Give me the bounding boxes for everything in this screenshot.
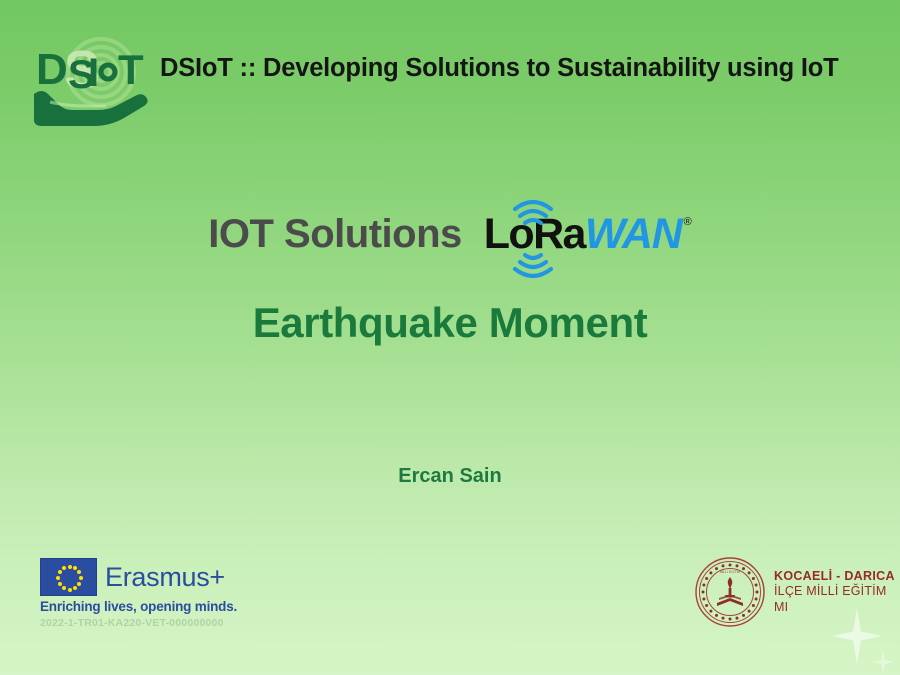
iot-solutions-label: IOT Solutions	[208, 214, 461, 254]
iot-solutions-row: IOT Solutions Lo Ra WAN ®	[0, 203, 900, 265]
author-name: Ercan Sain	[0, 465, 900, 488]
svg-text:D: D	[36, 45, 66, 94]
erasmus-logo-row: Erasmus+	[40, 558, 290, 596]
presentation-slide: S D S I T DSIoT :: Developing Solutions …	[0, 0, 900, 675]
svg-text:T: T	[118, 46, 144, 93]
erasmus-plus-logo: Erasmus+ Enriching lives, opening minds.…	[40, 558, 290, 629]
lorawan-lo-text: Lo	[484, 213, 533, 256]
lorawan-ra-text: Ra	[533, 213, 585, 256]
svg-text:I: I	[88, 51, 97, 95]
slide-main-title: Earthquake Moment	[0, 300, 900, 346]
page-title: DSIoT :: Developing Solutions to Sustain…	[160, 54, 890, 83]
lorawan-logo: Lo Ra WAN ®	[484, 213, 692, 256]
ministry-seal-icon: MILLI EGITIM	[694, 556, 766, 628]
kocaeli-darica-logo: MILLI EGITIM KOCAELİ - DARICA İLÇE MİLLİ…	[694, 556, 900, 628]
kocaeli-line-2: İLÇE MİLLİ EĞİTİM MI	[774, 584, 900, 615]
sparkle-small-icon	[872, 650, 894, 674]
kocaeli-line-1: KOCAELİ - DARICA	[774, 569, 900, 585]
kocaeli-text-block: KOCAELİ - DARICA İLÇE MİLLİ EĞİTİM MI	[774, 569, 900, 616]
erasmus-tagline: Enriching lives, opening minds.	[40, 599, 290, 614]
erasmus-wordmark: Erasmus+	[105, 564, 225, 591]
eu-flag-icon	[40, 558, 97, 596]
erasmus-project-code: 2022-1-TR01-KA220-VET-000000000	[40, 617, 290, 629]
registered-trademark-icon: ®	[684, 217, 692, 228]
dsiot-logo-icon: S D S I T	[28, 32, 150, 130]
svg-text:MILLI EGITIM: MILLI EGITIM	[720, 570, 741, 574]
slide-header: S D S I T DSIoT :: Developing Solutions …	[0, 26, 900, 136]
lorawan-wan-text: WAN	[585, 213, 682, 256]
